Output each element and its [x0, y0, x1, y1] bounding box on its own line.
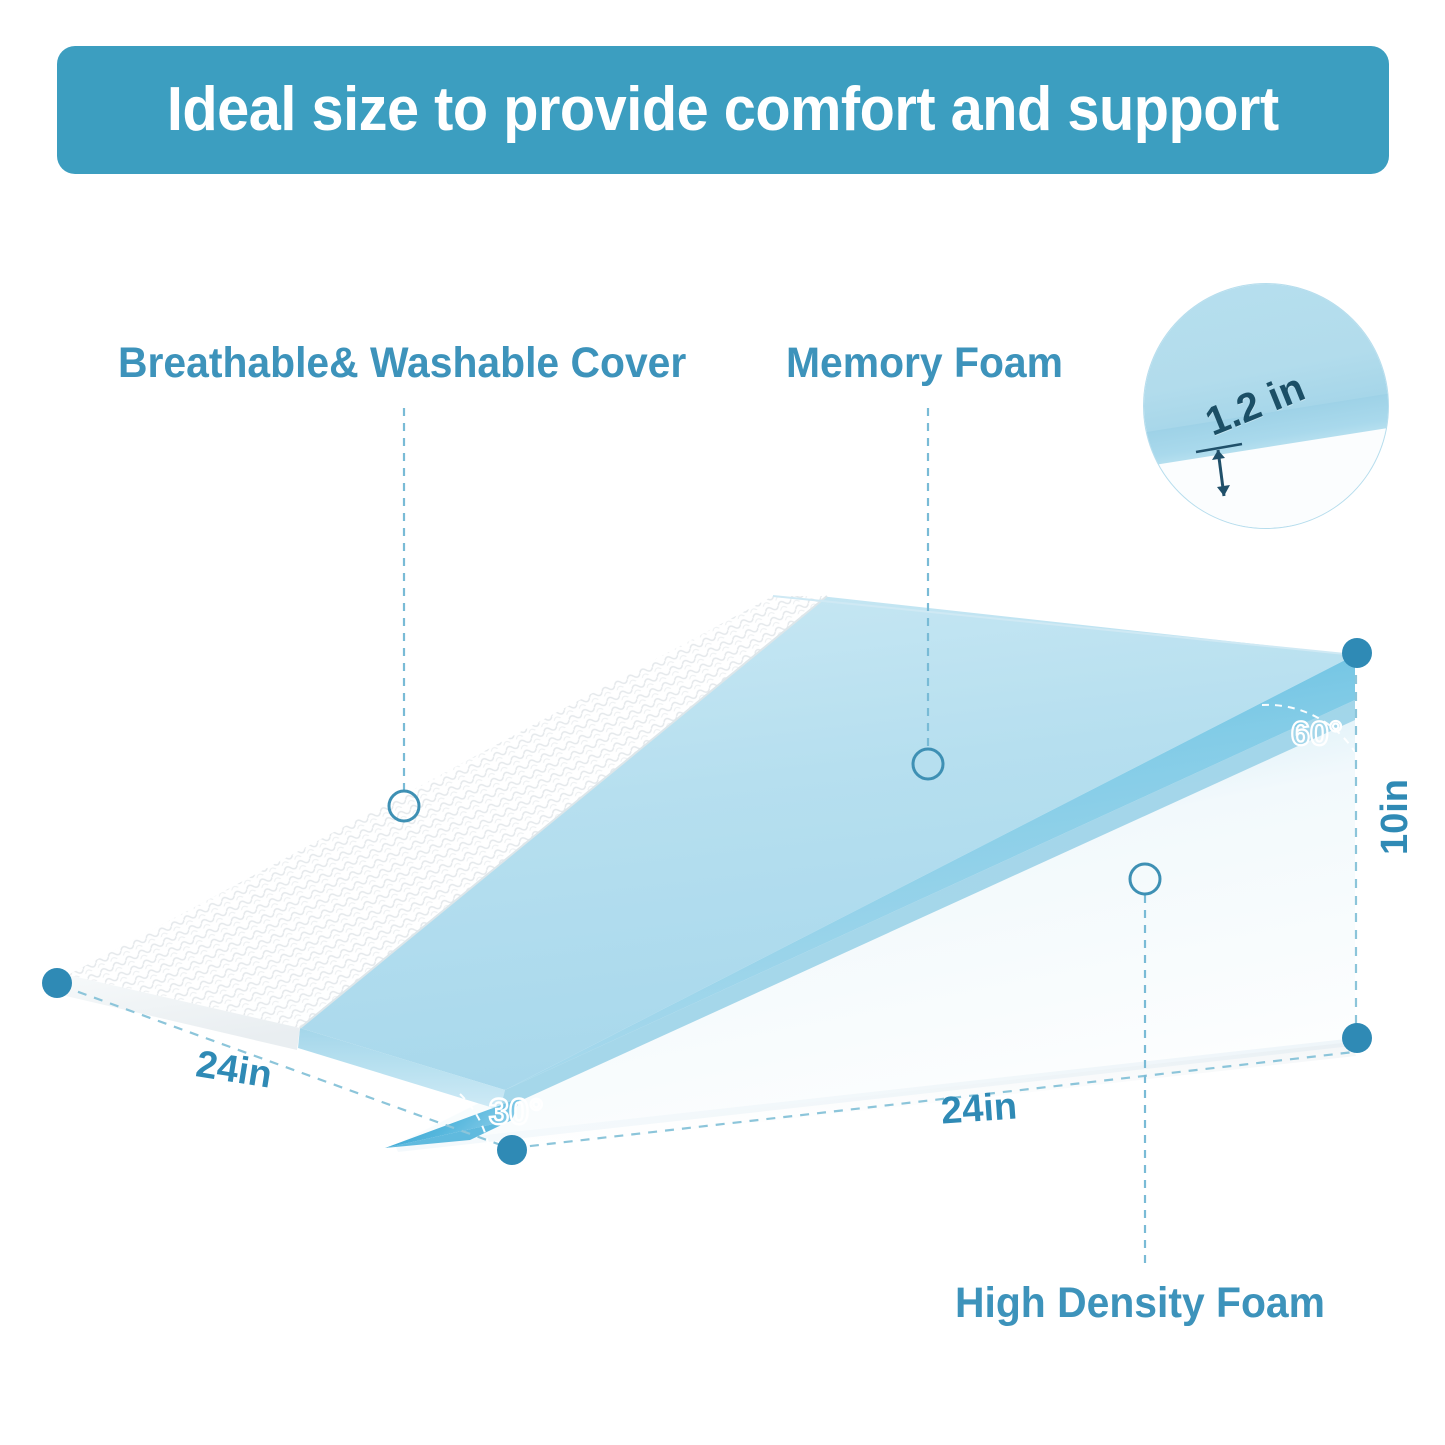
angle-60-label: 60°	[1291, 715, 1342, 753]
dimension-label-height: 10in	[1376, 779, 1414, 855]
callout-label-breathable-washable-cover: Breathable& Washable Cover	[118, 342, 686, 385]
infographic-canvas: Ideal size to provide comfort and suppor…	[0, 0, 1445, 1445]
dim-dot-left	[42, 968, 72, 998]
callout-label-high-density-foam: High Density Foam	[955, 1282, 1325, 1325]
dim-dot-top-right	[1342, 638, 1372, 668]
magnifier-detail-circle: 1.2 in	[1143, 283, 1389, 529]
dim-dot-bottom-right	[1342, 1023, 1372, 1053]
dim-dot-front	[497, 1135, 527, 1165]
callout-label-memory-foam: Memory Foam	[786, 342, 1063, 385]
wedge-pillow-illustration: 60° 30°	[0, 0, 1445, 1445]
angle-30-label: 30°	[489, 1091, 543, 1132]
dimension-label-depth: 24in	[940, 1087, 1019, 1130]
